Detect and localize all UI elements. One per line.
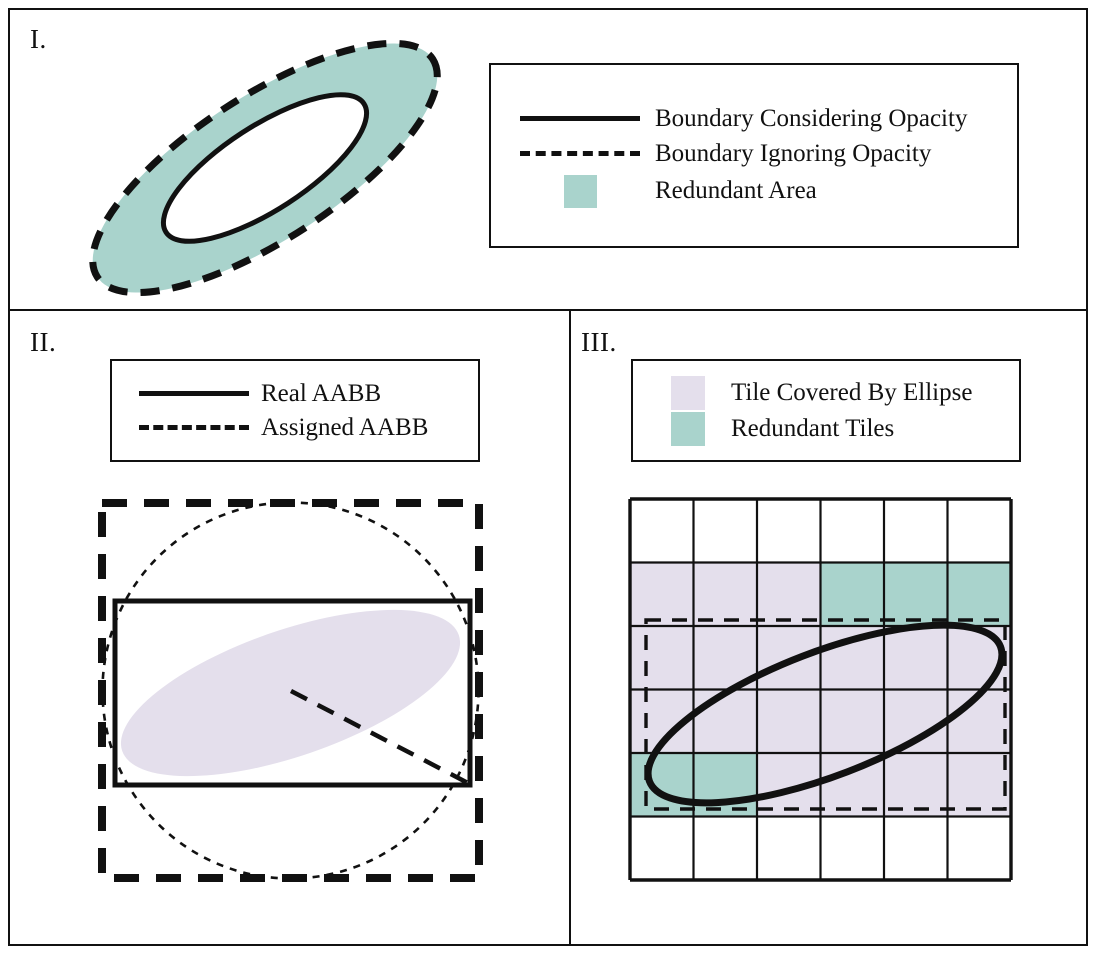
legend-row-redundant-tiles: Redundant Tiles — [633, 411, 1019, 447]
lavender-swatch-icon — [645, 376, 731, 410]
tile-cell — [757, 563, 821, 627]
tile-cell — [757, 690, 821, 754]
legend-row-boundary-ignoring-opacity: Boundary Ignoring Opacity — [491, 136, 1017, 172]
dashed-line-icon — [126, 425, 261, 430]
tile-cell — [630, 626, 694, 690]
tile-cell — [884, 499, 948, 563]
legend-row-real-aabb: Real AABB — [112, 377, 478, 411]
tile-cell — [757, 499, 821, 563]
legend-label: Real AABB — [261, 379, 381, 409]
panel-label-iii: III. — [581, 329, 617, 356]
teal-swatch-icon — [645, 412, 731, 446]
tile-cell — [630, 753, 694, 817]
tile-cell — [694, 499, 758, 563]
panel-label-i: I. — [30, 26, 47, 53]
tile-cell — [884, 626, 948, 690]
tile-cell — [694, 563, 758, 627]
solid-line-icon — [505, 116, 655, 121]
panel-iii-legend: Tile Covered By Ellipse Redundant Tiles — [631, 359, 1021, 462]
tile-cell — [630, 817, 694, 881]
tile-cell — [821, 563, 885, 627]
tile-cell — [757, 817, 821, 881]
legend-label: Boundary Ignoring Opacity — [655, 139, 931, 169]
panel-label-ii: II. — [30, 329, 56, 356]
dashed-line-icon — [505, 151, 655, 156]
panel-iii-diagram — [620, 485, 1030, 895]
panel-i-legend: Boundary Considering Opacity Boundary Ig… — [489, 63, 1019, 248]
legend-row-tile-covered-by-ellipse: Tile Covered By Ellipse — [633, 375, 1019, 411]
tile-cell — [821, 817, 885, 881]
tile-cell — [948, 563, 1012, 627]
panel-divider-horizontal — [8, 309, 1088, 311]
panel-ii-legend: Real AABB Assigned AABB — [110, 359, 480, 462]
tile-cell — [884, 753, 948, 817]
panel-ii-diagram — [75, 485, 505, 895]
legend-row-boundary-considering-opacity: Boundary Considering Opacity — [491, 101, 1017, 137]
tile-cell — [630, 499, 694, 563]
panel-divider-vertical — [569, 311, 571, 946]
legend-label: Boundary Considering Opacity — [655, 104, 967, 134]
tile-cell — [694, 817, 758, 881]
teal-swatch-icon — [505, 175, 655, 208]
solid-line-icon — [126, 391, 261, 396]
tile-cell — [948, 817, 1012, 881]
panel-i-diagram — [55, 38, 475, 293]
legend-label: Assigned AABB — [261, 413, 428, 443]
tile-cell — [948, 753, 1012, 817]
tile-cell — [694, 690, 758, 754]
tile-cell — [948, 499, 1012, 563]
legend-row-redundant-area: Redundant Area — [491, 172, 1017, 211]
legend-label: Redundant Tiles — [731, 414, 894, 444]
figure-root: I. Boundary Considering Opacity Boundary… — [0, 0, 1096, 960]
tile-cell — [630, 563, 694, 627]
legend-label: Tile Covered By Ellipse — [731, 378, 972, 408]
tile-cell — [694, 753, 758, 817]
tile-cell — [884, 563, 948, 627]
tile-cell — [821, 499, 885, 563]
tile-cell — [757, 626, 821, 690]
legend-row-assigned-aabb: Assigned AABB — [112, 411, 478, 445]
tile-cell — [821, 690, 885, 754]
legend-label: Redundant Area — [655, 176, 817, 206]
tile-cell — [884, 817, 948, 881]
